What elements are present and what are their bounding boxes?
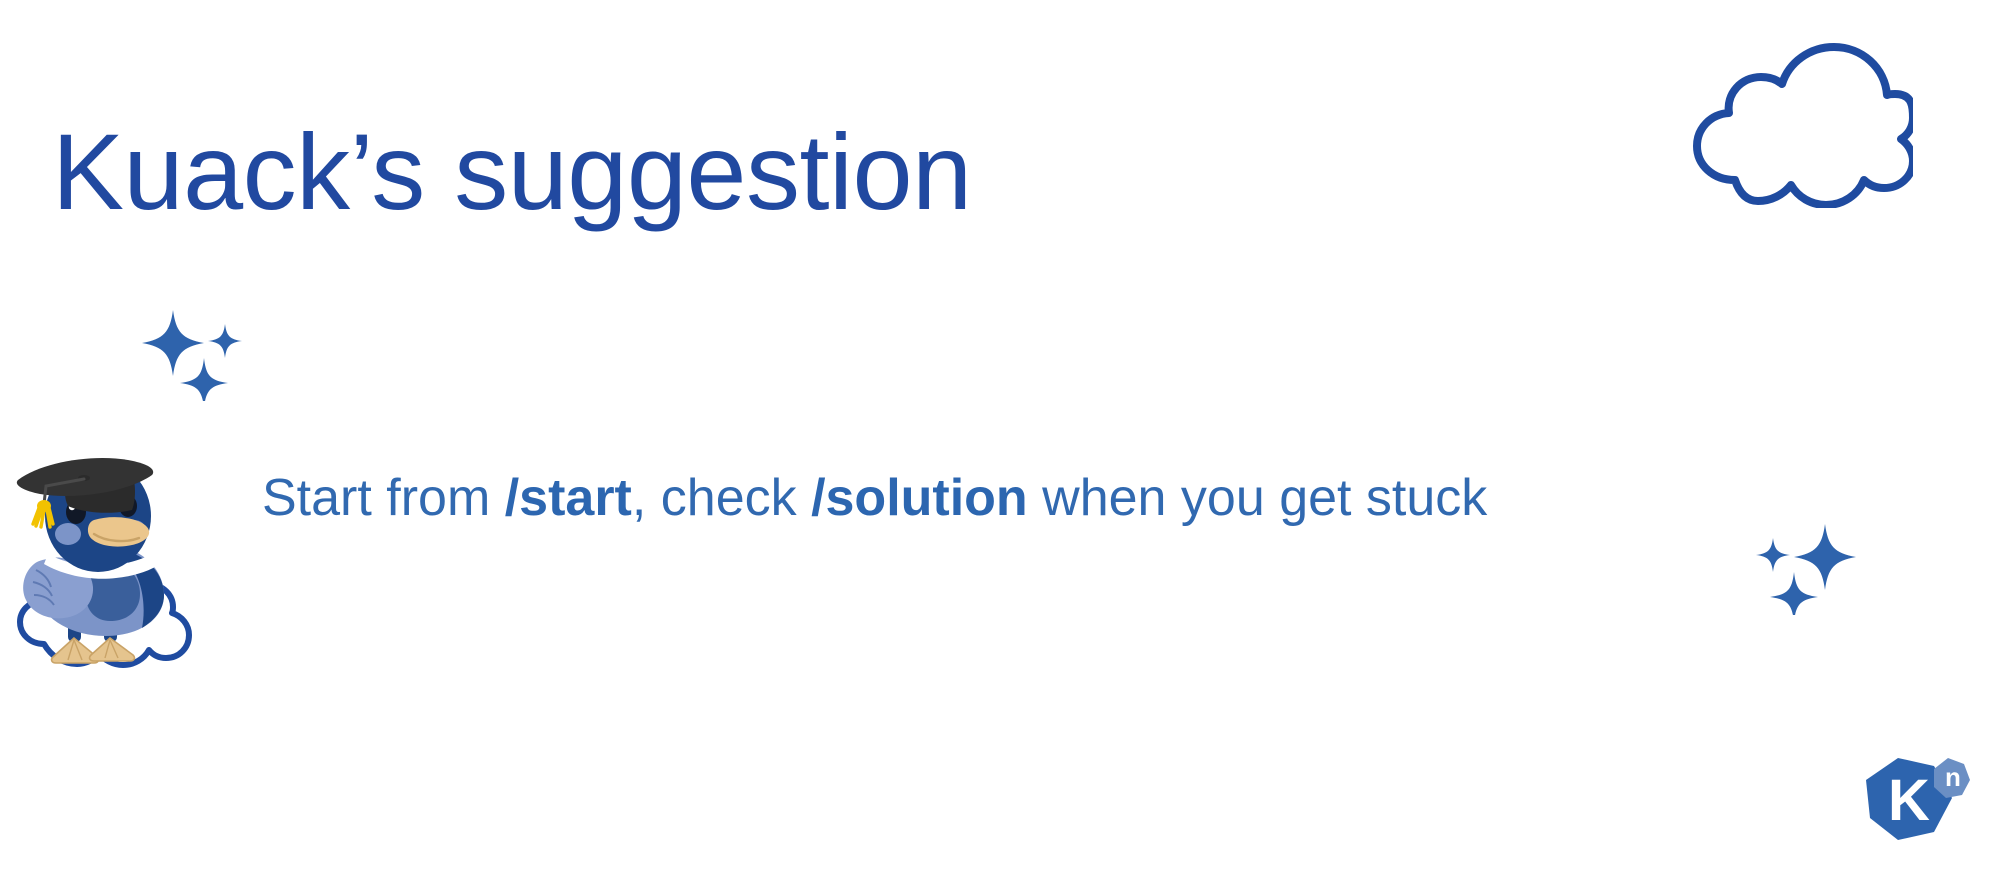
- brand-logo[interactable]: K n: [1852, 752, 1972, 858]
- suggestion-text: Start from /start, check /solution when …: [262, 467, 1487, 529]
- mascot-cap-tassel: [33, 500, 53, 527]
- mascot-cheek-left: [55, 523, 81, 545]
- suggestion-text-part-3: when you get stuck: [1028, 469, 1488, 527]
- kuack-duck-mascot-icon: [6, 448, 216, 688]
- command-solution: /solution: [811, 469, 1028, 527]
- sparkles-icon: [140, 306, 250, 401]
- command-start: /start: [505, 469, 632, 527]
- page-title: Kuack’s suggestion: [52, 114, 972, 231]
- slide-canvas: Kuack’s suggestion Start from /start, ch…: [0, 0, 1999, 878]
- suggestion-text-part-1: Start from: [262, 469, 505, 527]
- cloud-outline-icon: [1663, 28, 1913, 208]
- sparkles-icon: [1748, 520, 1858, 615]
- suggestion-text-part-2: , check: [632, 469, 811, 527]
